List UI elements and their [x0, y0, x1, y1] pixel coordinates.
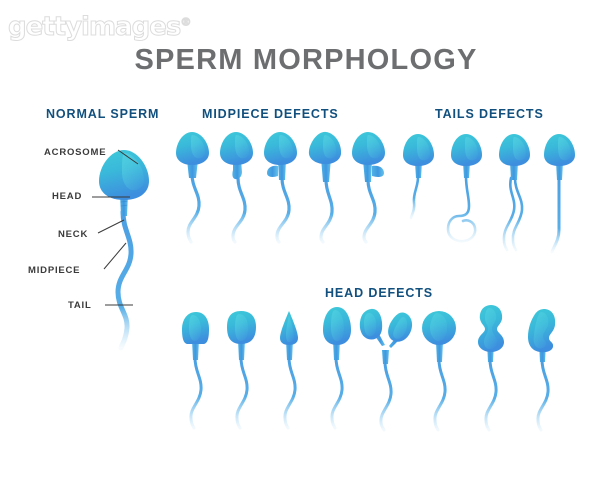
- head-defect-elongated-head: [316, 306, 362, 430]
- page-title: SPERM MORPHOLOGY: [0, 44, 612, 77]
- tail: [277, 178, 289, 242]
- tail-defect-double-tail: [494, 134, 540, 254]
- tail: [435, 360, 445, 430]
- tail: [285, 358, 295, 428]
- midpiece-defect-thick-midpiece: [174, 132, 216, 242]
- watermark-mark: ®: [180, 15, 190, 28]
- tail: [552, 174, 559, 252]
- annotation-tail: TAIL: [68, 300, 92, 311]
- annotation-neck: NECK: [58, 229, 88, 240]
- tail: [191, 358, 201, 428]
- tail: [538, 360, 548, 430]
- section-heading-normal-sperm: NORMAL SPERM: [46, 107, 159, 121]
- tail: [486, 360, 496, 430]
- tail: [188, 174, 199, 242]
- tail-defect-short-tail: [400, 134, 442, 244]
- tail: [233, 178, 245, 242]
- tail-defect-coiled-tail: [445, 134, 497, 249]
- getty-watermark: gettyimages®: [8, 12, 190, 42]
- cytoplasmic-droplet: [267, 166, 278, 177]
- tail: [321, 180, 332, 242]
- tail: [332, 358, 342, 428]
- leader-line-tail: [105, 303, 135, 307]
- cytoplasmic-droplet: [372, 166, 384, 177]
- leader-line-midpiece: [104, 243, 132, 271]
- head-defect-amorphous-head: [522, 308, 568, 430]
- midpiece-defect-cytoplasmic-droplet-right: [350, 132, 392, 242]
- head-defect-pyriform-head: [470, 304, 516, 430]
- midpiece-defect-bent-midpiece: [218, 132, 260, 242]
- annotation-acrosome: ACROSOME: [44, 147, 106, 158]
- head-defect-double-head: [358, 306, 420, 430]
- tail: [237, 358, 247, 428]
- head-defect-tapered-head: [176, 310, 220, 428]
- section-heading-head-defects: HEAD DEFECTS: [325, 286, 433, 300]
- leader-line-neck: [98, 220, 128, 238]
- watermark-text: gettyimages: [8, 12, 180, 42]
- tail: [381, 362, 391, 430]
- leader-line-head: [92, 195, 132, 199]
- annotation-midpiece: MIDPIECE: [28, 265, 80, 276]
- tail-defect-straight-stiff-tail: [540, 134, 582, 259]
- tail: [411, 174, 418, 218]
- annotation-head: HEAD: [52, 191, 82, 202]
- leader-line-acrosome: [118, 150, 146, 166]
- section-heading-midpiece-defects: MIDPIECE DEFECTS: [202, 107, 339, 121]
- tail: [364, 180, 375, 242]
- head-defect-round-square-head: [222, 310, 266, 428]
- midpiece-defect-asymmetric-midpiece: [306, 132, 348, 242]
- tail: [448, 176, 475, 241]
- midpiece: [382, 350, 389, 364]
- midpiece-defect-cytoplasmic-droplet-left: [262, 132, 304, 242]
- section-heading-tails-defects: TAILS DEFECTS: [435, 107, 544, 121]
- head-defect-round-head: [418, 310, 464, 430]
- head-defect-pointed-head: [270, 310, 314, 428]
- illustration-canvas: gettyimages® SPERM MORPHOLOGY NORMAL SPE…: [0, 0, 612, 495]
- midpiece: [436, 342, 443, 362]
